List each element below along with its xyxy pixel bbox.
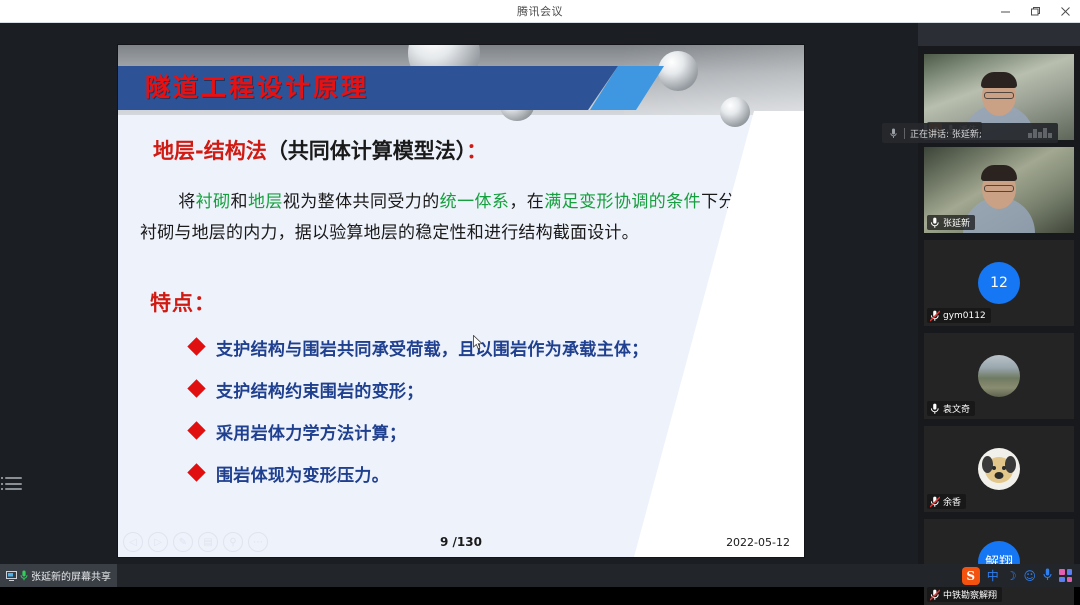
heading-1-dark: （共同体计算模型法） bbox=[267, 139, 467, 163]
slide-title: 隧道工程设计原理 bbox=[145, 71, 369, 105]
zoom-button[interactable]: ⚲ bbox=[223, 532, 243, 552]
diamond-bullet-icon bbox=[187, 379, 205, 397]
avatar bbox=[978, 448, 1020, 490]
paragraph-run: 将 bbox=[178, 192, 196, 212]
mouse-cursor bbox=[473, 335, 484, 351]
close-button[interactable] bbox=[1050, 0, 1080, 23]
participant-tile[interactable]: 解翔中铁勘察解翔 bbox=[924, 519, 1074, 605]
restore-button[interactable] bbox=[1020, 0, 1050, 23]
ime-toolbox-icon[interactable] bbox=[1059, 569, 1072, 582]
paragraph-run: ，在 bbox=[509, 192, 544, 212]
avatar bbox=[978, 355, 1020, 397]
ime-smiley-icon[interactable]: ☺ bbox=[1023, 569, 1036, 583]
microphone-icon bbox=[20, 570, 28, 581]
window-titlebar: 腾讯会议 bbox=[0, 0, 1080, 23]
system-tray: S 中 ☽ ☺ bbox=[962, 564, 1080, 587]
participant-name-bar: 张延新 bbox=[927, 215, 975, 230]
participant-name-bar: gym0112 bbox=[927, 308, 991, 323]
slide-date: 2022-05-12 bbox=[726, 536, 790, 549]
meeting-stage: 隧道工程设计原理 地层-结构法（共同体计算模型法）： 将衬砌和地层视为整体共同受… bbox=[0, 23, 1080, 564]
decorative-bubble bbox=[658, 51, 698, 91]
diamond-bullet-icon bbox=[187, 337, 205, 355]
banner-divider bbox=[904, 128, 905, 139]
decorative-bubble bbox=[720, 97, 750, 127]
bullet-text: 支护结构与围岩共同承受荷载，且以围岩作为承载主体； bbox=[216, 335, 649, 360]
microphone-muted-icon bbox=[929, 495, 940, 508]
microphone-icon bbox=[929, 216, 940, 229]
paragraph-run: 统一体系 bbox=[440, 192, 510, 212]
bullet-text: 围岩体现为变形压力。 bbox=[216, 461, 389, 486]
bullet-text: 支护结构约束围岩的变形； bbox=[216, 377, 424, 402]
taskbar-share-item[interactable]: 张延新的屏幕共享 bbox=[0, 564, 117, 587]
microphone-muted-icon bbox=[929, 588, 940, 601]
layout-button[interactable]: ▤ bbox=[198, 532, 218, 552]
participant-name: 袁文奇 bbox=[943, 402, 970, 415]
taskbar-share-label: 张延新的屏幕共享 bbox=[31, 568, 111, 583]
ime-voice-icon[interactable] bbox=[1043, 568, 1052, 584]
window-controls bbox=[990, 0, 1080, 23]
slide-paragraph: 将衬砌和地层视为整体共同受力的统一体系，在满足变形协调的条件下分别计算衬砌与地层… bbox=[140, 187, 788, 249]
paragraph-run: 满足变形协调的条件 bbox=[544, 192, 701, 212]
avatar: 12 bbox=[978, 262, 1020, 304]
heading-1-colon: ： bbox=[466, 139, 487, 163]
next-slide-button[interactable]: ▷ bbox=[148, 532, 168, 552]
slide-page-number: 9 /130 bbox=[440, 535, 482, 549]
screen-share-icon bbox=[6, 571, 17, 581]
sogou-ime-logo-icon[interactable]: S bbox=[962, 567, 980, 585]
left-rail bbox=[0, 23, 26, 564]
paragraph-run: 衬砌 bbox=[196, 192, 231, 212]
paragraph-run: 地层 bbox=[248, 192, 283, 212]
ime-chinese-mode-icon[interactable]: 中 bbox=[987, 567, 999, 584]
heading-1-red: 地层-结构法 bbox=[153, 139, 267, 163]
participant-tile[interactable]: 余香 bbox=[924, 426, 1074, 512]
audio-wave-icon bbox=[1028, 128, 1052, 138]
slide-footer: ◁▷✎▤⚲⋯ 9 /130 2022-05-12 bbox=[118, 529, 804, 557]
slide-heading-2: 特点： bbox=[150, 287, 216, 317]
paragraph-run: 视为整体共同受力的 bbox=[283, 192, 440, 212]
participant-name-bar: 余香 bbox=[927, 494, 966, 509]
participant-name: 余香 bbox=[943, 495, 961, 508]
participant-name: gym0112 bbox=[943, 311, 986, 321]
participant-tile[interactable]: 袁文奇 bbox=[924, 333, 1074, 419]
pen-button[interactable]: ✎ bbox=[173, 532, 193, 552]
bullet-text: 采用岩体力学方法计算； bbox=[216, 419, 406, 444]
active-speaker-text: 正在讲话: 张延新; bbox=[910, 127, 982, 140]
diamond-bullet-icon bbox=[187, 463, 205, 481]
paragraph-run: 和 bbox=[231, 192, 248, 212]
participant-name-bar: 中铁勘察解翔 bbox=[927, 587, 1002, 602]
shared-screen-area: 隧道工程设计原理 地层-结构法（共同体计算模型法）： 将衬砌和地层视为整体共同受… bbox=[0, 23, 918, 564]
participant-name: 中铁勘察解翔 bbox=[943, 588, 997, 601]
slide-toolbar: ◁▷✎▤⚲⋯ bbox=[123, 532, 268, 552]
microphone-muted-icon bbox=[929, 309, 940, 322]
more-button[interactable]: ⋯ bbox=[248, 532, 268, 552]
participant-name: 张延新 bbox=[943, 216, 970, 229]
participant-tile[interactable]: 张延新 bbox=[924, 147, 1074, 233]
list-icon[interactable] bbox=[5, 475, 22, 492]
minimize-button[interactable] bbox=[990, 0, 1020, 23]
window-title: 腾讯会议 bbox=[517, 3, 563, 19]
ime-moon-icon[interactable]: ☽ bbox=[1006, 569, 1017, 583]
diamond-bullet-icon bbox=[187, 421, 205, 439]
microphone-icon bbox=[888, 127, 899, 140]
presentation-slide: 隧道工程设计原理 地层-结构法（共同体计算模型法）： 将衬砌和地层视为整体共同受… bbox=[118, 45, 804, 557]
slide-heading-1: 地层-结构法（共同体计算模型法）： bbox=[153, 137, 487, 165]
participant-tile[interactable]: 12gym0112 bbox=[924, 240, 1074, 326]
taskbar: 张延新的屏幕共享 S 中 ☽ ☺ bbox=[0, 564, 1080, 587]
active-speaker-banner: 正在讲话: 张延新; bbox=[882, 123, 1058, 143]
microphone-icon bbox=[929, 402, 940, 415]
participant-name-bar: 袁文奇 bbox=[927, 401, 975, 416]
prev-slide-button[interactable]: ◁ bbox=[123, 532, 143, 552]
